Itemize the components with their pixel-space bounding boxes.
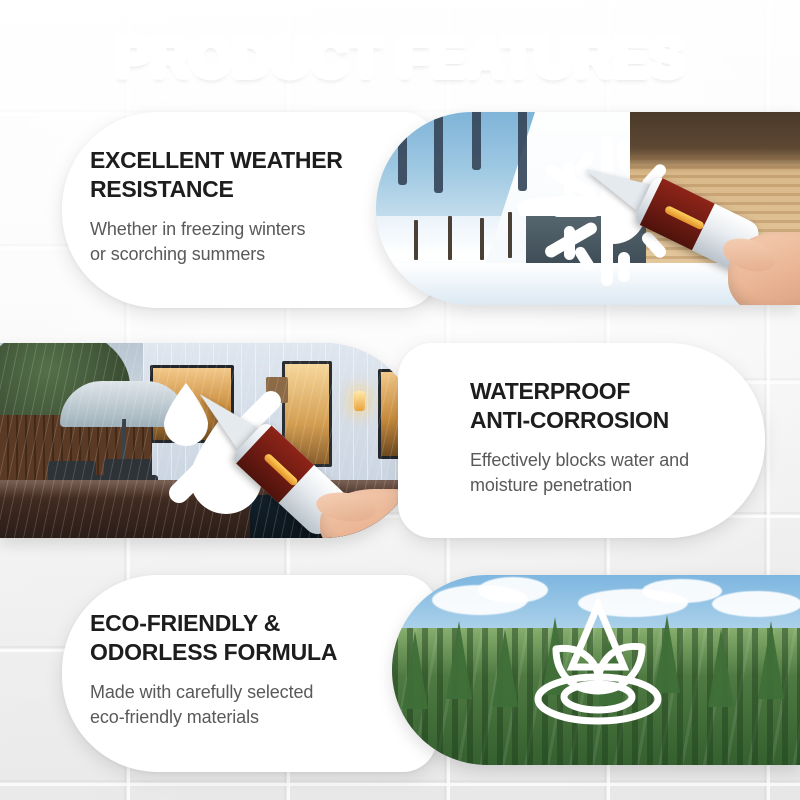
- feature-heading: WATERPROOF ANTI-CORROSION: [470, 377, 750, 435]
- caulk-tube-label: [664, 205, 705, 231]
- fence-post: [414, 220, 418, 260]
- feature-heading-line-1: ECO-FRIENDLY &: [90, 609, 390, 638]
- tree-trunk: [472, 112, 481, 170]
- caulk-tube-label: [263, 452, 299, 486]
- tree-trunk: [434, 112, 443, 193]
- feature-description-line-1: Effectively blocks water and: [470, 448, 750, 473]
- fir-tree: [758, 621, 784, 699]
- feature-description-line-1: Whether in freezing winters: [90, 217, 380, 242]
- feature-heading-line-2: ODORLESS FORMULA: [90, 638, 390, 667]
- feature-heading-line-2: ANTI-CORROSION: [470, 406, 750, 435]
- fence-post: [508, 212, 512, 258]
- feature-heading: ECO-FRIENDLY & ODORLESS FORMULA: [90, 609, 390, 667]
- feature-heading: EXCELLENT WEATHER RESISTANCE: [90, 146, 380, 204]
- fir-tree: [446, 621, 472, 699]
- page-title: PRODUCT FEATURES: [12, 26, 788, 88]
- feature-photo-winter-scene: [376, 112, 800, 305]
- tree-trunk: [398, 112, 407, 185]
- fence-post: [448, 216, 452, 260]
- page-title-text: PRODUCT FEATURES: [115, 26, 685, 88]
- fir-tree: [708, 629, 734, 707]
- feature-card-eco-friendly: ECO-FRIENDLY & ODORLESS FORMULA Made wit…: [62, 575, 437, 772]
- fir-tree: [402, 631, 428, 709]
- forest-scene: [392, 575, 800, 765]
- fence-post: [480, 218, 484, 260]
- feature-text-block: WATERPROOF ANTI-CORROSION Effectively bl…: [470, 377, 750, 498]
- feature-card-waterproof: WATERPROOF ANTI-CORROSION Effectively bl…: [398, 343, 765, 538]
- infographic-canvas: PRODUCT FEATURES EXCELLENT WEATHER RESIS…: [0, 0, 800, 800]
- feature-photo-rainy-patio: [0, 343, 420, 538]
- feature-description: Made with carefully selected eco-friendl…: [90, 680, 390, 730]
- cloud: [712, 591, 800, 617]
- feature-photo-forest: [392, 575, 800, 765]
- feature-description-line-1: Made with carefully selected: [90, 680, 390, 705]
- feature-heading-line-1: WATERPROOF: [470, 377, 750, 406]
- eco-leaf-droplet-icon: [520, 595, 676, 745]
- feature-description: Whether in freezing winters or scorching…: [90, 217, 380, 267]
- feature-description: Effectively blocks water and moisture pe…: [470, 448, 750, 498]
- feature-description-line-2: eco-friendly materials: [90, 705, 390, 730]
- feature-text-block: ECO-FRIENDLY & ODORLESS FORMULA Made wit…: [90, 609, 390, 730]
- feature-heading-line-1: EXCELLENT WEATHER: [90, 146, 380, 175]
- fir-tree: [492, 629, 518, 707]
- feature-text-block: EXCELLENT WEATHER RESISTANCE Whether in …: [90, 146, 380, 267]
- feature-description-line-2: moisture penetration: [470, 473, 750, 498]
- feature-heading-line-2: RESISTANCE: [90, 175, 380, 204]
- feature-description-line-2: or scorching summers: [90, 242, 380, 267]
